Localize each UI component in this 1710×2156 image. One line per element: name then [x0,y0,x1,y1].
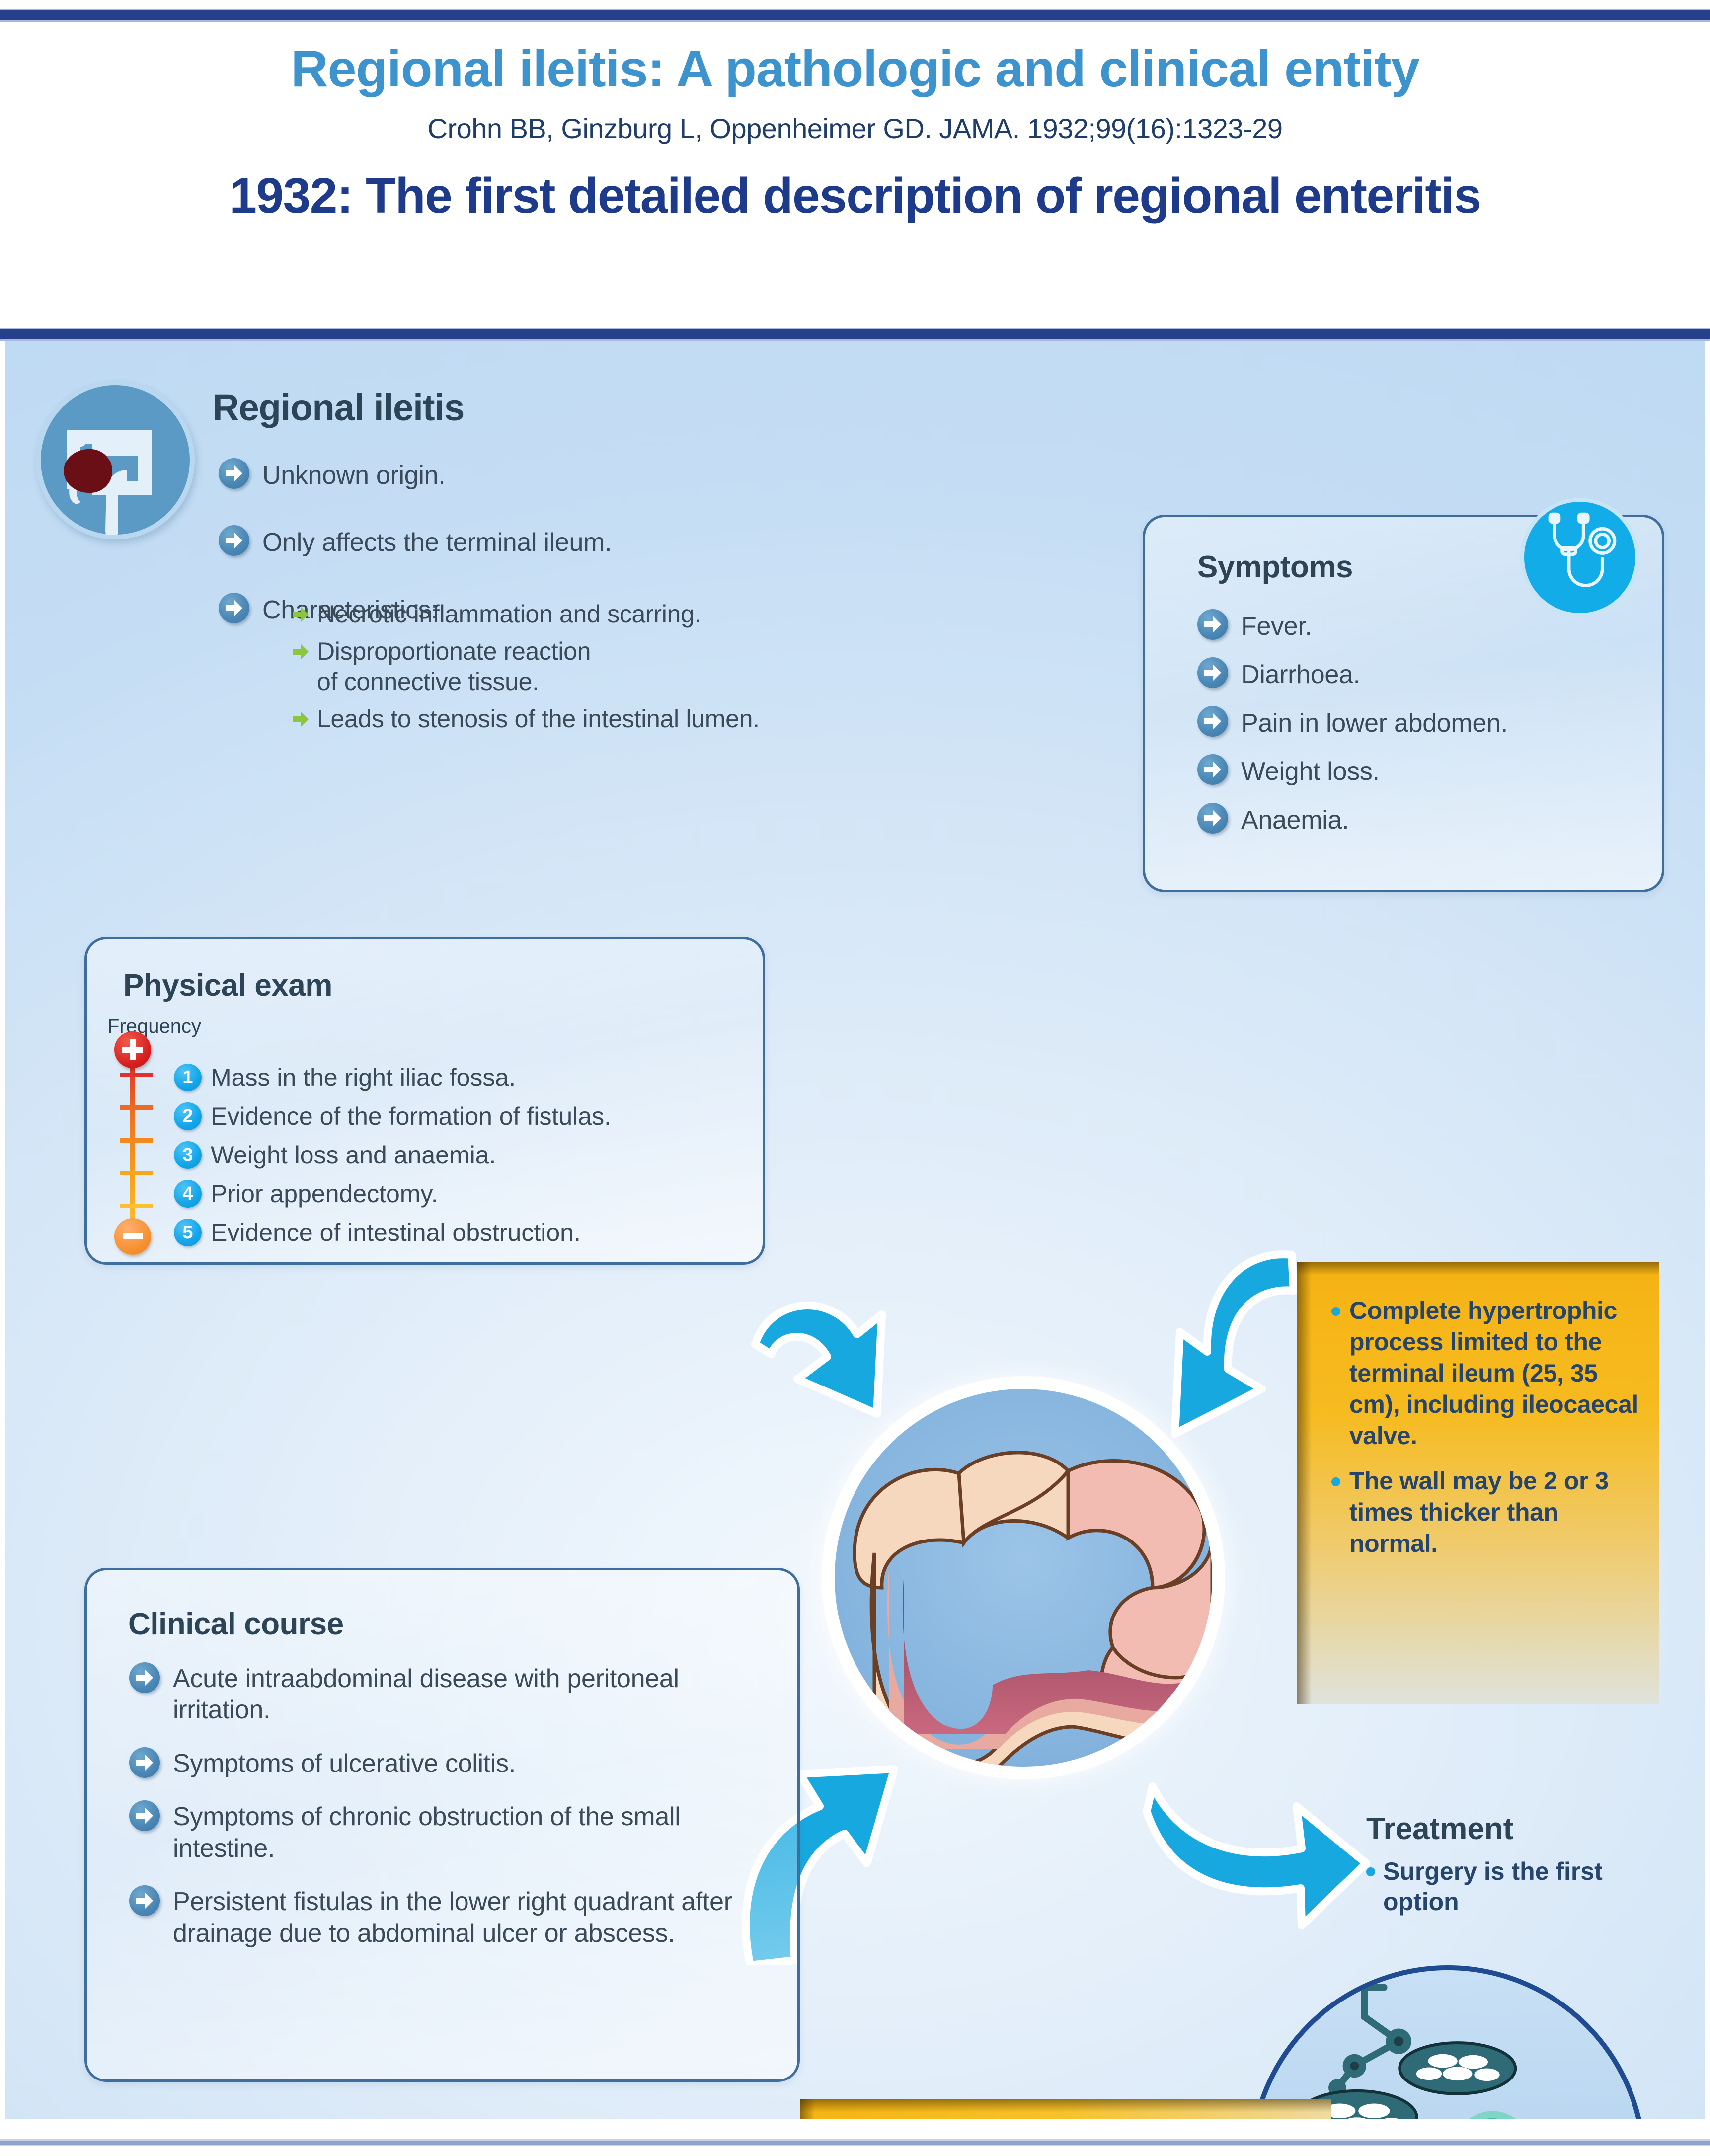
treatment-title: Treatment [1366,1811,1674,1847]
list-item-label: Acute intraabdominal disease with perito… [173,1663,734,1726]
list-item-label: Persistent fistulas in the lower right q… [173,1886,759,1949]
list-item-label: Disproportionate reaction of connective … [317,636,591,697]
differential-diagnosis-panel: Differential diagnosis: Non-specific ulc… [800,2099,1331,2119]
arrow-pathology-to-center [1093,1235,1312,1454]
list-item: Weight loss. [1197,754,1644,787]
list-item: Diarrhoea. [1197,657,1644,691]
list-item-label: Symptoms of ulcerative colitis. [173,1748,516,1779]
list-item: Acute intraabdominal disease with perito… [129,1662,790,1726]
list-item: The wall may be 2 or 3 times thicker tha… [1331,1465,1644,1559]
list-item-label: Prior appendectomy. [211,1179,438,1208]
rank-badge: 5 [174,1219,202,1246]
list-item: Unknown origin. [219,458,884,491]
top-rule [0,9,1710,22]
list-item: Symptoms of chronic obstruction of the s… [129,1800,790,1864]
physical-exam-title: Physical exam [123,968,332,1003]
clinical-course-title: Clinical course [128,1607,344,1642]
green-arrow-icon [292,643,309,660]
arrow-bullet-icon [1197,754,1228,785]
bullet-dot-icon [1366,1867,1375,1876]
list-item-label: Diarrhoea. [1241,659,1360,691]
arrow-bullet-icon [1197,803,1228,834]
citation: Crohn BB, Ginzburg L, Oppenheimer GD. JA… [0,112,1710,145]
list-item-label: Fever. [1241,611,1312,642]
plus-icon [114,1031,151,1068]
surgery-scene-icon [1249,1965,1646,2119]
list-item: 1 Mass in the right iliac fossa. [174,1061,755,1094]
stethoscope-icon [1520,498,1639,617]
page-title: Regional ileitis: A pathologic and clini… [0,40,1710,99]
list-item-label: Weight loss. [1241,756,1380,787]
list-item-label: Weight loss and anaemia. [211,1141,496,1169]
list-item-label: Evidence of intestinal obstruction. [211,1218,581,1247]
physical-exam-list: 1 Mass in the right iliac fossa. 2 Evide… [174,1061,755,1249]
list-item: 3 Weight loss and anaemia. [174,1139,755,1171]
list-item-label: Mass in the right iliac fossa. [211,1063,516,1092]
rank-badge: 3 [174,1141,202,1169]
arrow-bullet-icon [219,593,249,623]
list-item: Complete hypertrophic process limited to… [1331,1295,1644,1452]
pathology-panel: Complete hypertrophic process limited to… [1297,1262,1659,1704]
rank-badge: 2 [174,1102,202,1130]
arrow-bullet-icon [1197,706,1228,737]
arrow-center-to-treatment [1143,1757,1376,1945]
symptoms-title: Symptoms [1197,549,1353,585]
list-item-label: Surgery is the first option [1383,1856,1674,1917]
regional-ileitis-title: Regional ileitis [213,386,464,429]
arrow-bullet-icon [129,1747,160,1778]
list-item-label: Anaemia. [1241,805,1349,836]
arrow-bullet-icon [1197,609,1228,640]
colon-icon [36,381,195,539]
list-item: 5 Evidence of intestinal obstruction. [174,1216,755,1249]
bottom-rule [0,2139,1710,2146]
list-item: Surgery is the first option [1366,1856,1674,1917]
clinical-course-list: Acute intraabdominal disease with perito… [129,1662,790,1949]
list-item-label: Unknown origin. [262,460,445,491]
list-item: Persistent fistulas in the lower right q… [129,1885,790,1949]
arrow-bullet-icon [219,458,249,489]
list-item: Pain in lower abdomen. [1197,706,1644,739]
infographic-page: Regional ileitis: A pathologic and clini… [0,0,1710,2156]
list-item: Anaemia. [1197,803,1644,836]
arrow-bullet-icon [1197,657,1228,688]
arrow-bullet-icon [129,1662,160,1693]
header-divider [0,328,1710,341]
arrow-bullet-icon [129,1885,160,1916]
treatment-section: Treatment Surgery is the first option [1366,1811,1674,1917]
list-item-label: Complete hypertrophic process limited to… [1349,1295,1644,1452]
list-item: Disproportionate reaction of connective … [292,636,908,697]
bullet-dot-icon [1331,1477,1340,1486]
panel-inner-shadow-top [1297,1262,1659,1275]
list-item-label: Leads to stenosis of the intestinal lume… [317,704,760,734]
minus-icon [114,1218,151,1255]
list-item: Necrotic inflammation and scarring. [292,599,908,629]
list-item: Symptoms of ulcerative colitis. [129,1747,790,1779]
list-item: Only affects the terminal ileum. [219,525,884,558]
list-item-label: Only affects the terminal ileum. [262,527,612,558]
arrow-symptoms-to-center [740,1250,979,1449]
symptoms-list: Fever. Diarrhoea. Pain in lower abdomen.… [1197,609,1644,836]
list-item-label: Evidence of the formation of fistulas. [211,1102,611,1131]
green-arrow-icon [292,711,309,728]
page-subtitle: 1932: The first detailed description of … [0,167,1710,225]
list-item-label: Necrotic inflammation and scarring. [317,599,701,629]
header: Regional ileitis: A pathologic and clini… [0,40,1710,225]
regional-ileitis-title-wrap: Regional ileitis [213,386,464,429]
regional-ileitis-characteristics: Necrotic inflammation and scarring. Disp… [292,599,908,741]
rank-badge: 1 [174,1064,202,1091]
list-item: 2 Evidence of the formation of fistulas. [174,1100,755,1133]
list-item: Leads to stenosis of the intestinal lume… [292,704,908,734]
list-item-label: Symptoms of chronic obstruction of the s… [173,1801,734,1864]
bullet-dot-icon [1331,1307,1340,1316]
arrow-bullet-icon [219,525,249,556]
list-item-label: Pain in lower abdomen. [1241,708,1508,739]
arrow-bullet-icon [129,1800,160,1831]
list-item-label: The wall may be 2 or 3 times thicker tha… [1349,1465,1644,1559]
list-item: 4 Prior appendectomy. [174,1177,755,1210]
rank-badge: 4 [174,1180,202,1208]
green-arrow-icon [292,606,309,623]
infographic-canvas: Regional ileitis Unknown origin. Only af… [5,341,1705,2119]
panel-inner-shadow-top [800,2099,1331,2112]
panel-inner-shadow-left [1297,1262,1312,1704]
